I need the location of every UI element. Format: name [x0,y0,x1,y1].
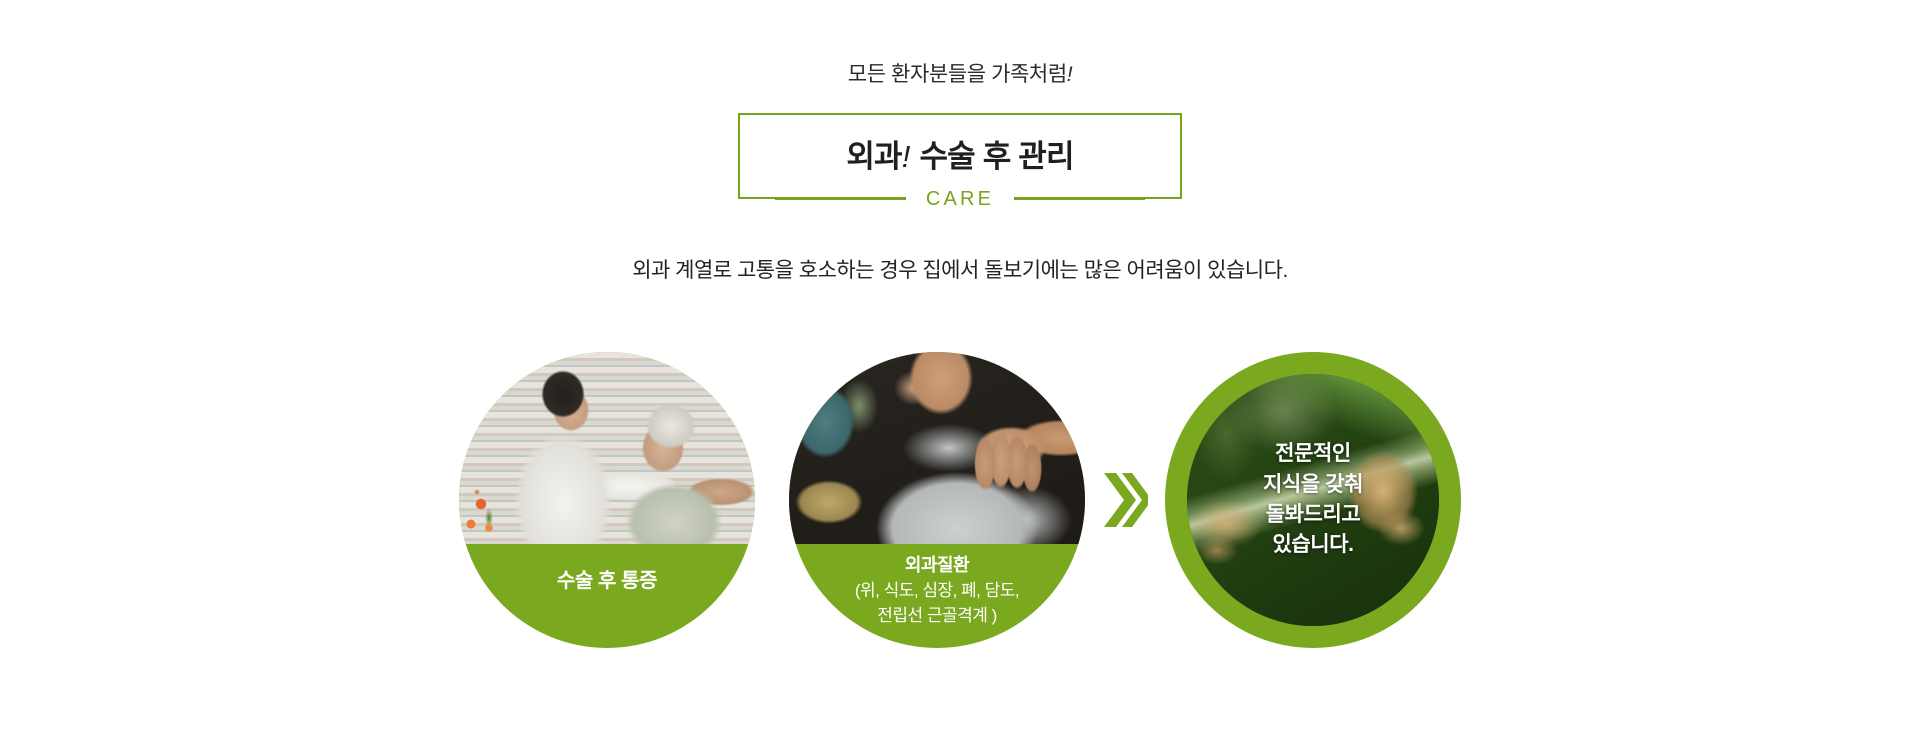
photo-shoulder-pain [789,352,1085,544]
care-line-1: 전문적인 [1165,439,1461,469]
circle-professional-care: 전문적인 지식을 갖춰 돌봐드리고 있습니다. [1165,352,1461,648]
care-divider-row: CARE [738,186,1182,212]
tagline: 모든 환자분들을 가족처럼! [0,62,1920,87]
circle-label-post-op-pain: 수술 후 통증 [459,564,755,593]
tagline-exclamation: ! [1067,63,1072,86]
circle-label-sub-line-1: (위, 식도, 심장, 폐, 담도, [789,579,1085,604]
circle-post-op-pain: 수술 후 통증 [459,352,755,648]
care-label: CARE [906,186,1014,212]
photo-doctor-patient [459,352,755,544]
double-chevron-right-icon [1093,352,1157,648]
title-exclamation: ! [902,139,912,174]
care-line-3: 돌봐드리고 [1165,500,1461,530]
tagline-text: 모든 환자분들을 가족처럼 [848,63,1067,86]
circle-surgical-disease: 외과질환 (위, 식도, 심장, 폐, 담도, 전립선 근골격계 ) [789,352,1085,648]
circle-label-professional-care: 전문적인 지식을 갖춰 돌봐드리고 있습니다. [1165,439,1461,561]
header-block: 모든 환자분들을 가족처럼! 외과! 수술 후 관리 CARE 외과 계열로 고… [0,0,1920,284]
circle-label-title: 외과질환 [789,552,1085,578]
care-rule-right [1014,198,1145,200]
page-title: 외과! 수술 후 관리 [846,141,1073,172]
care-section-page: 모든 환자분들을 가족처럼! 외과! 수술 후 관리 CARE 외과 계열로 고… [0,0,1920,729]
photo-doctor-patient-image [459,352,755,544]
title-main: 외과 [846,139,901,174]
title-box-wrapper: 외과! 수술 후 관리 CARE [738,113,1182,199]
section-description: 외과 계열로 고통을 호소하는 경우 집에서 돌보기에는 많은 어려움이 있습니… [0,257,1920,284]
circle-label-surgical-disease: 외과질환 (위, 식도, 심장, 폐, 담도, 전립선 근골격계 ) [789,552,1085,628]
circles-row: 수술 후 통증 외과질환 (위, 식도, 심장, 폐, 담도, 전립선 근골격계… [0,345,1920,655]
photo-shoulder-pain-image [789,352,1085,544]
title-rest: 수술 후 관리 [919,139,1073,174]
care-line-4: 있습니다. [1165,530,1461,560]
circle-label-sub-line-2: 전립선 근골격계 ) [789,604,1085,629]
care-rule-left [775,198,906,200]
care-line-2: 지식을 갖춰 [1165,470,1461,500]
